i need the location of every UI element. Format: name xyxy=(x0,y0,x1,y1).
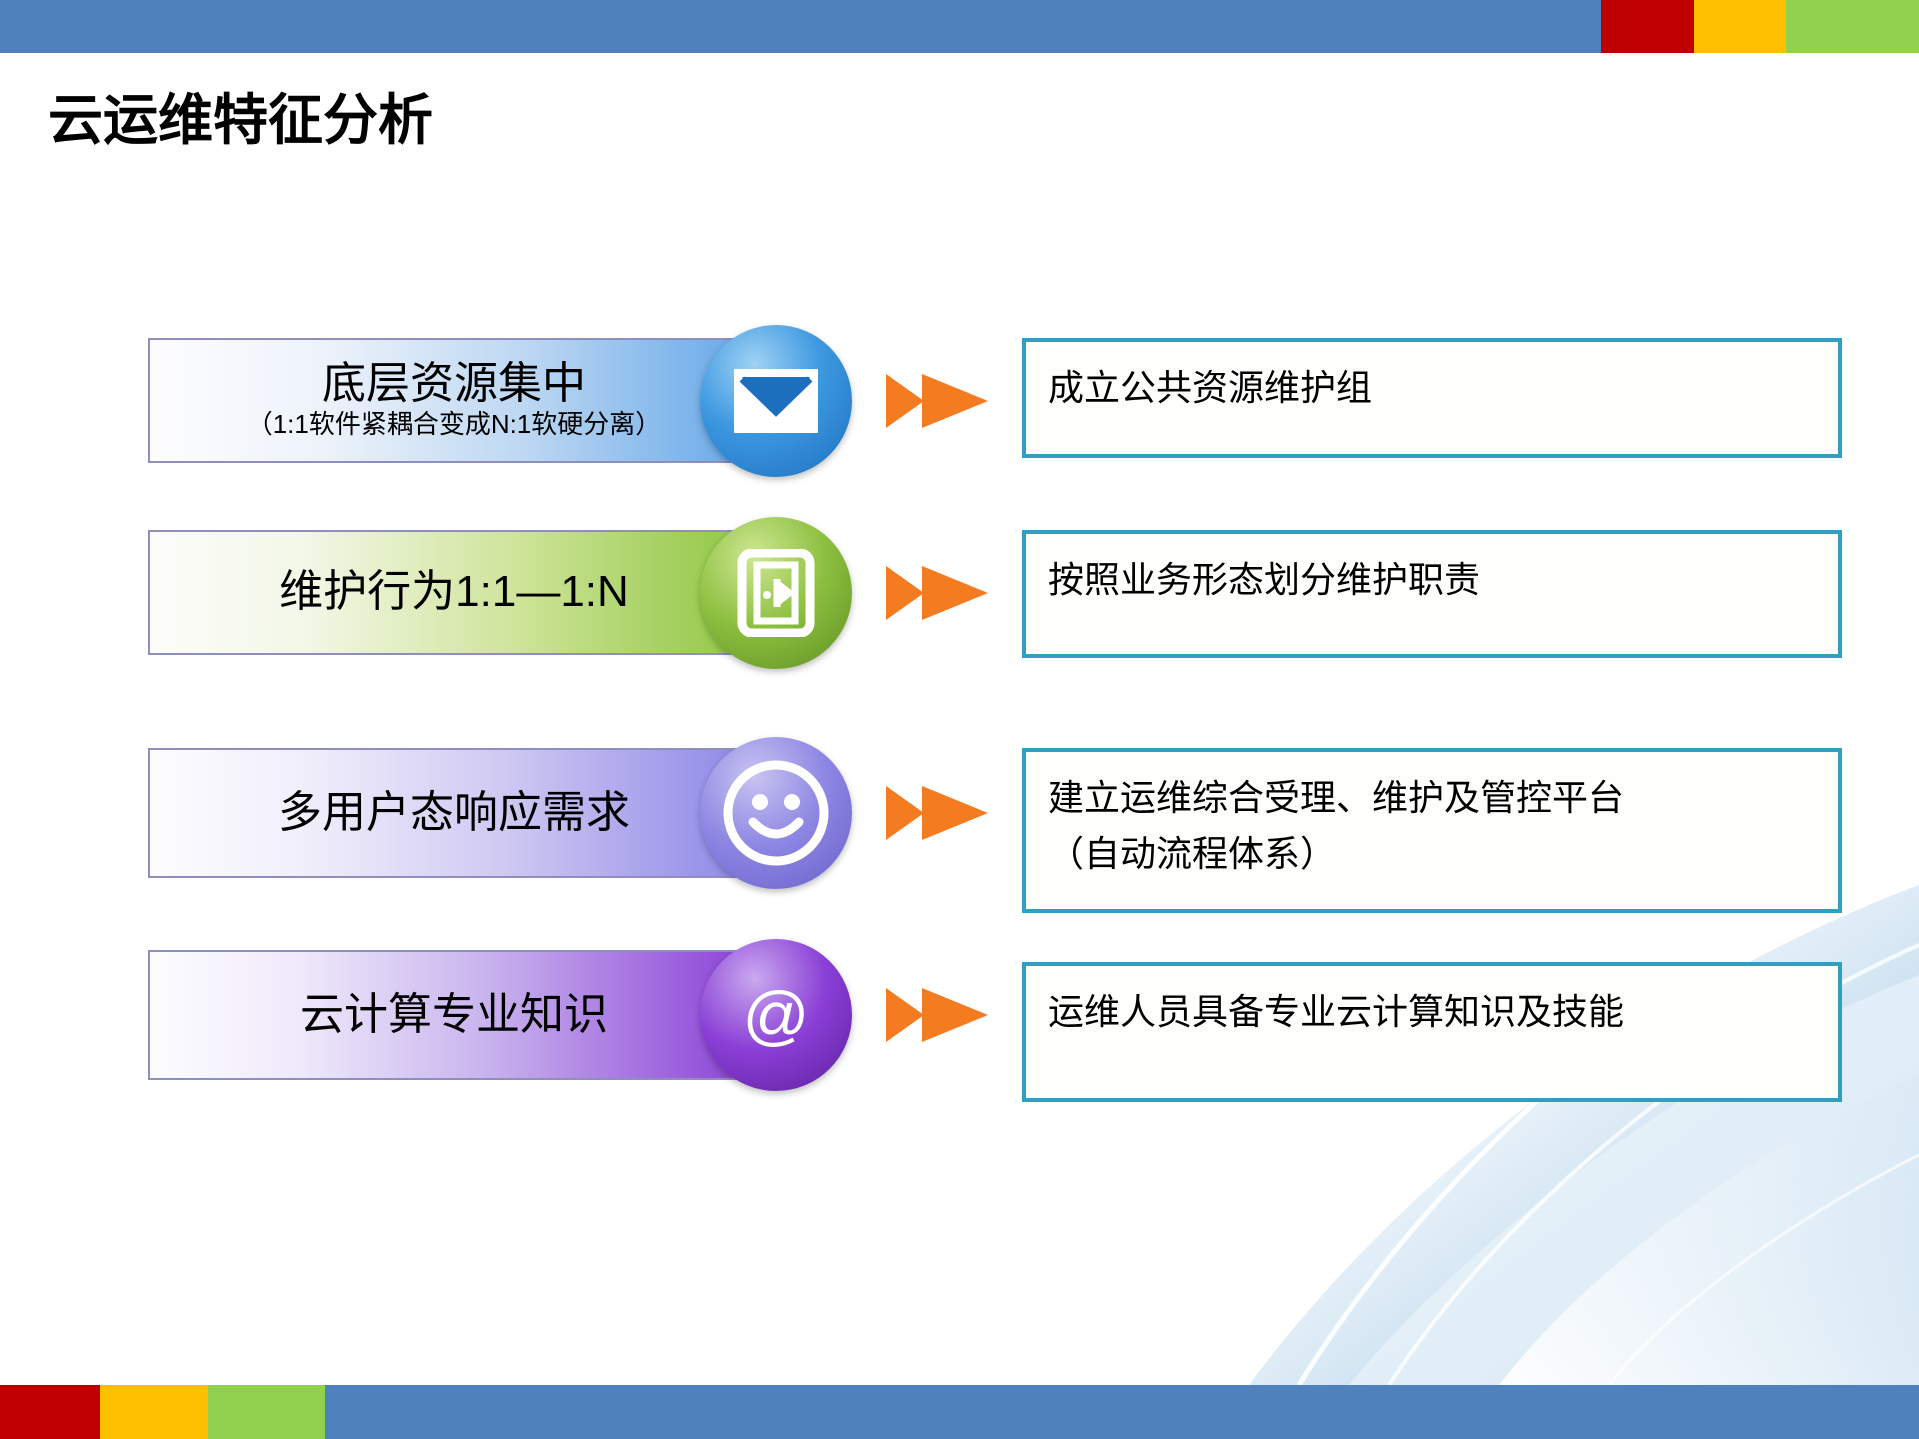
bottom-banner xyxy=(0,1385,1919,1439)
feature-sub-text: （1:1软件紧耦合变成N:1软硬分离） xyxy=(247,410,662,440)
at-sign-icon: @ xyxy=(700,939,852,1091)
feature-label-bar: 底层资源集中 （1:1软件紧耦合变成N:1软硬分离） xyxy=(148,338,760,463)
detail-box: 运维人员具备专业云计算知识及技能 xyxy=(1022,962,1842,1102)
detail-line: 运维人员具备专业云计算知识及技能 xyxy=(1048,984,1816,1040)
feature-main-text: 云计算专业知识 xyxy=(300,992,608,1038)
top-swatch-yellow xyxy=(1694,0,1786,53)
flow-arrow-icon xyxy=(884,370,994,432)
feature-main-text: 底层资源集中 xyxy=(322,361,586,407)
feature-label-bar: 多用户态响应需求 xyxy=(148,748,760,878)
page-title: 云运维特征分析 xyxy=(48,75,433,155)
at-sign-glyph: @ xyxy=(743,982,810,1048)
top-swatch-red xyxy=(1601,0,1694,53)
top-swatch-green xyxy=(1786,0,1919,53)
feature-label-bar: 维护行为1:1—1:N xyxy=(148,530,760,655)
bottom-swatch-red xyxy=(0,1385,100,1439)
envelope-icon xyxy=(700,325,852,477)
flow-arrow-icon xyxy=(884,782,994,844)
detail-box: 成立公共资源维护组 xyxy=(1022,338,1842,458)
feature-main-text: 维护行为1:1—1:N xyxy=(279,569,629,615)
smiley-face-icon xyxy=(700,737,852,889)
flow-arrow-icon xyxy=(884,562,994,624)
detail-box: 按照业务形态划分维护职责 xyxy=(1022,530,1842,658)
detail-line: （自动流程体系） xyxy=(1048,826,1816,882)
feature-main-text: 多用户态响应需求 xyxy=(278,790,630,836)
flow-arrow-icon xyxy=(884,984,994,1046)
exit-door-icon xyxy=(700,517,852,669)
detail-line: 建立运维综合受理、维护及管控平台 xyxy=(1048,770,1816,826)
detail-line: 成立公共资源维护组 xyxy=(1048,360,1816,416)
detail-line: 按照业务形态划分维护职责 xyxy=(1048,552,1816,608)
feature-label-bar: 云计算专业知识 xyxy=(148,950,760,1080)
top-banner xyxy=(0,0,1919,53)
bottom-swatch-green xyxy=(208,1385,325,1439)
bottom-swatch-yellow xyxy=(100,1385,208,1439)
detail-box: 建立运维综合受理、维护及管控平台 （自动流程体系） xyxy=(1022,748,1842,913)
